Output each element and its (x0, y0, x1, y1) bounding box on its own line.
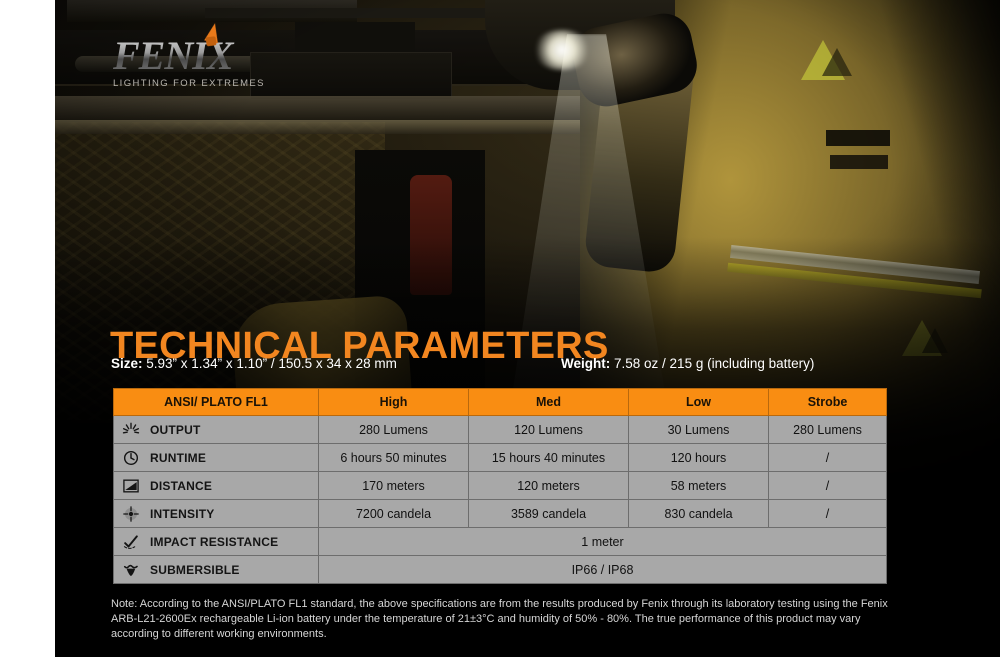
cell-intensity-med: 3589 candela (469, 500, 629, 528)
cell-output-med: 120 Lumens (469, 416, 629, 444)
table-row: IMPACT RESISTANCE 1 meter (114, 528, 887, 556)
table-row: SUBMERSIBLE IP66 / IP68 (114, 556, 887, 584)
left-margin (0, 0, 55, 667)
cell-runtime-strobe: / (769, 444, 887, 472)
cell-distance-low: 58 meters (629, 472, 769, 500)
row-param-submersible: SUBMERSIBLE (114, 556, 319, 584)
cell-output-low: 30 Lumens (629, 416, 769, 444)
ansi-fl1-spec-table: ANSI/ PLATO FL1 High Med Low Strobe (113, 388, 887, 584)
table-row: DISTANCE 170 meters 120 meters 58 meters… (114, 472, 887, 500)
column-header-ansi: ANSI/ PLATO FL1 (114, 389, 319, 416)
weight-label: Weight: (561, 356, 610, 371)
row-label: DISTANCE (150, 479, 212, 493)
hero-panel: FENIX LIGHTING FOR EXTREMES TECHNICAL PA… (55, 0, 1000, 657)
table-row: RUNTIME 6 hours 50 minutes 15 hours 40 m… (114, 444, 887, 472)
footnote: Note: According to the ANSI/PLATO FL1 st… (111, 597, 901, 642)
row-label: IMPACT RESISTANCE (150, 535, 278, 549)
table-row: OUTPUT 280 Lumens 120 Lumens 30 Lumens 2… (114, 416, 887, 444)
row-param-impact-resistance: IMPACT RESISTANCE (114, 528, 319, 556)
weight-value: 7.58 oz / 215 g (including battery) (614, 356, 814, 371)
cell-output-strobe: 280 Lumens (769, 416, 887, 444)
size-label: Size: (111, 356, 143, 371)
column-header-low: Low (629, 389, 769, 416)
column-header-high: High (319, 389, 469, 416)
intensity-icon (120, 504, 142, 524)
row-param-distance: DISTANCE (114, 472, 319, 500)
cell-intensity-high: 7200 candela (319, 500, 469, 528)
table-header-row: ANSI/ PLATO FL1 High Med Low Strobe (114, 389, 887, 416)
column-header-med: Med (469, 389, 629, 416)
sunburst-icon (120, 420, 142, 440)
cell-runtime-med: 15 hours 40 minutes (469, 444, 629, 472)
cell-impact-resistance-value: 1 meter (319, 528, 887, 556)
product-spec-page: FENIX LIGHTING FOR EXTREMES TECHNICAL PA… (0, 0, 1000, 667)
row-label: INTENSITY (150, 507, 214, 521)
cell-distance-high: 170 meters (319, 472, 469, 500)
water-drop-icon (120, 560, 142, 580)
table-row: INTENSITY 7200 candela 3589 candela 830 … (114, 500, 887, 528)
cell-distance-med: 120 meters (469, 472, 629, 500)
row-label: RUNTIME (150, 451, 206, 465)
clock-icon (120, 448, 142, 468)
row-param-intensity: INTENSITY (114, 500, 319, 528)
row-label: SUBMERSIBLE (150, 563, 240, 577)
beam-icon (120, 476, 142, 496)
impact-check-icon (120, 532, 142, 552)
column-header-strobe: Strobe (769, 389, 887, 416)
bottom-margin (0, 657, 1000, 667)
cell-output-high: 280 Lumens (319, 416, 469, 444)
row-param-output: OUTPUT (114, 416, 319, 444)
cell-runtime-low: 120 hours (629, 444, 769, 472)
row-label: OUTPUT (150, 423, 201, 437)
cell-distance-strobe: / (769, 472, 887, 500)
cell-intensity-low: 830 candela (629, 500, 769, 528)
weight-spec: Weight: 7.58 oz / 215 g (including batte… (561, 356, 814, 371)
size-value: 5.93” x 1.34” x 1.10” / 150.5 x 34 x 28 … (146, 356, 397, 371)
row-param-runtime: RUNTIME (114, 444, 319, 472)
cell-runtime-high: 6 hours 50 minutes (319, 444, 469, 472)
cell-intensity-strobe: / (769, 500, 887, 528)
cell-submersible-value: IP66 / IP68 (319, 556, 887, 584)
size-spec: Size: 5.93” x 1.34” x 1.10” / 150.5 x 34… (111, 356, 397, 371)
